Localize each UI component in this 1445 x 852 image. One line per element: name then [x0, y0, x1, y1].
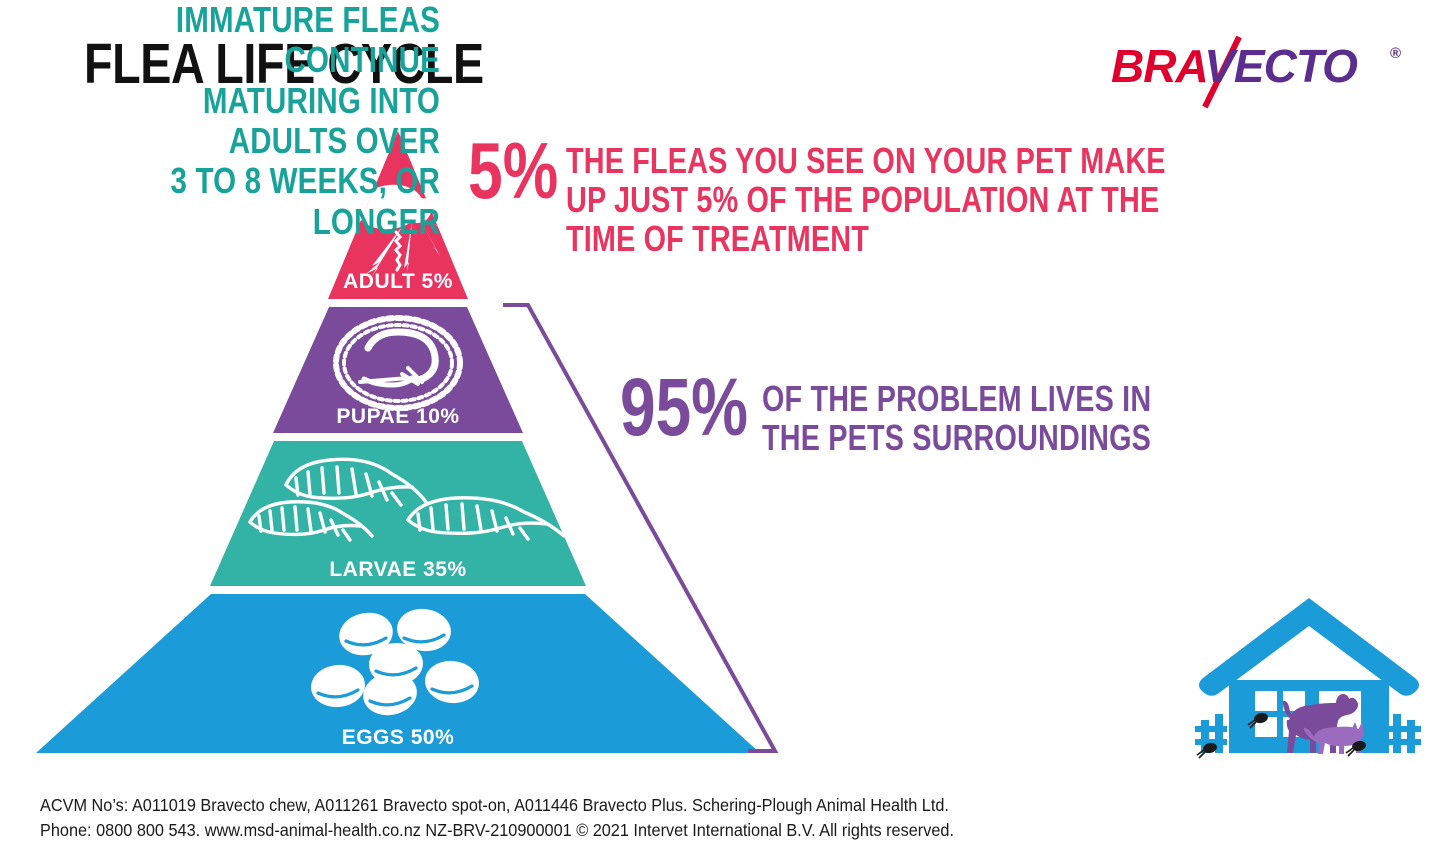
callout-immature-line2: MATURING INTO ADULTS OVER	[79, 81, 440, 162]
callout-immature-line3: 3 TO 8 WEEKS, OR LONGER	[79, 161, 440, 242]
callout-adult-percent: 5%	[468, 136, 558, 206]
logo-text-purple: VECTO	[1204, 40, 1357, 92]
bravecto-logo: BRAVECTO ®	[1111, 37, 1401, 109]
house-with-pets-illustration	[1193, 588, 1425, 760]
callout-adult-line2: UP JUST 5% OF THE POPULATION AT THE	[566, 181, 1166, 220]
pyramid-tier-pupae[interactable]: PUPAE 10%	[273, 307, 523, 433]
footer-line-1: ACVM No’s: A011019 Bravecto chew, A01126…	[40, 793, 1156, 818]
registered-trademark-icon: ®	[1390, 45, 1401, 62]
callout-environment-line1: OF THE PROBLEM LIVES IN	[762, 380, 1151, 419]
infographic-page: FLEA LIFE CYCLE BRAVECTO ®	[0, 0, 1445, 852]
logo-text-red: BRA	[1111, 40, 1204, 92]
pyramid-tier-larvae[interactable]: LARVAE 35%	[210, 441, 586, 586]
callout-adult-line3: TIME OF TREATMENT	[566, 220, 1166, 259]
tier-label-larvae: LARVAE 35%	[329, 558, 466, 581]
callout-environment-95-percent: 95% OF THE PROBLEM LIVES IN THE PETS SUR…	[620, 372, 1249, 458]
footer-line-2: Phone: 0800 800 543. www.msd-animal-heal…	[40, 818, 1156, 843]
tier-label-adult: ADULT 5%	[343, 270, 453, 293]
callout-environment-line2: THE PETS SURROUNDINGS	[762, 419, 1151, 458]
callout-adult-line1: THE FLEAS YOU SEE ON YOUR PET MAKE	[566, 142, 1166, 181]
tier-label-eggs: EGGS 50%	[342, 726, 455, 749]
fence-right-icon	[1389, 714, 1421, 753]
pyramid-tier-eggs[interactable]: EGGS 50%	[36, 594, 760, 753]
callout-environment-percent: 95%	[620, 372, 748, 444]
callout-adult-5-percent: 5% THE FLEAS YOU SEE ON YOUR PET MAKE UP…	[468, 136, 1315, 259]
callout-environment-text: OF THE PROBLEM LIVES IN THE PETS SURROUN…	[762, 380, 1151, 458]
callout-immature-line1: IMMATURE FLEAS CONTINUE	[79, 0, 440, 81]
tier-label-pupae: PUPAE 10%	[336, 405, 459, 428]
logo-wordmark: BRAVECTO	[1111, 43, 1357, 89]
house-scene-svg	[1193, 588, 1425, 760]
callout-immature-text: IMMATURE FLEAS CONTINUE MATURING INTO AD…	[79, 0, 440, 242]
callout-adult-text: THE FLEAS YOU SEE ON YOUR PET MAKE UP JU…	[566, 142, 1166, 259]
footer-legal-text: ACVM No’s: A011019 Bravecto chew, A01126…	[40, 793, 1156, 843]
